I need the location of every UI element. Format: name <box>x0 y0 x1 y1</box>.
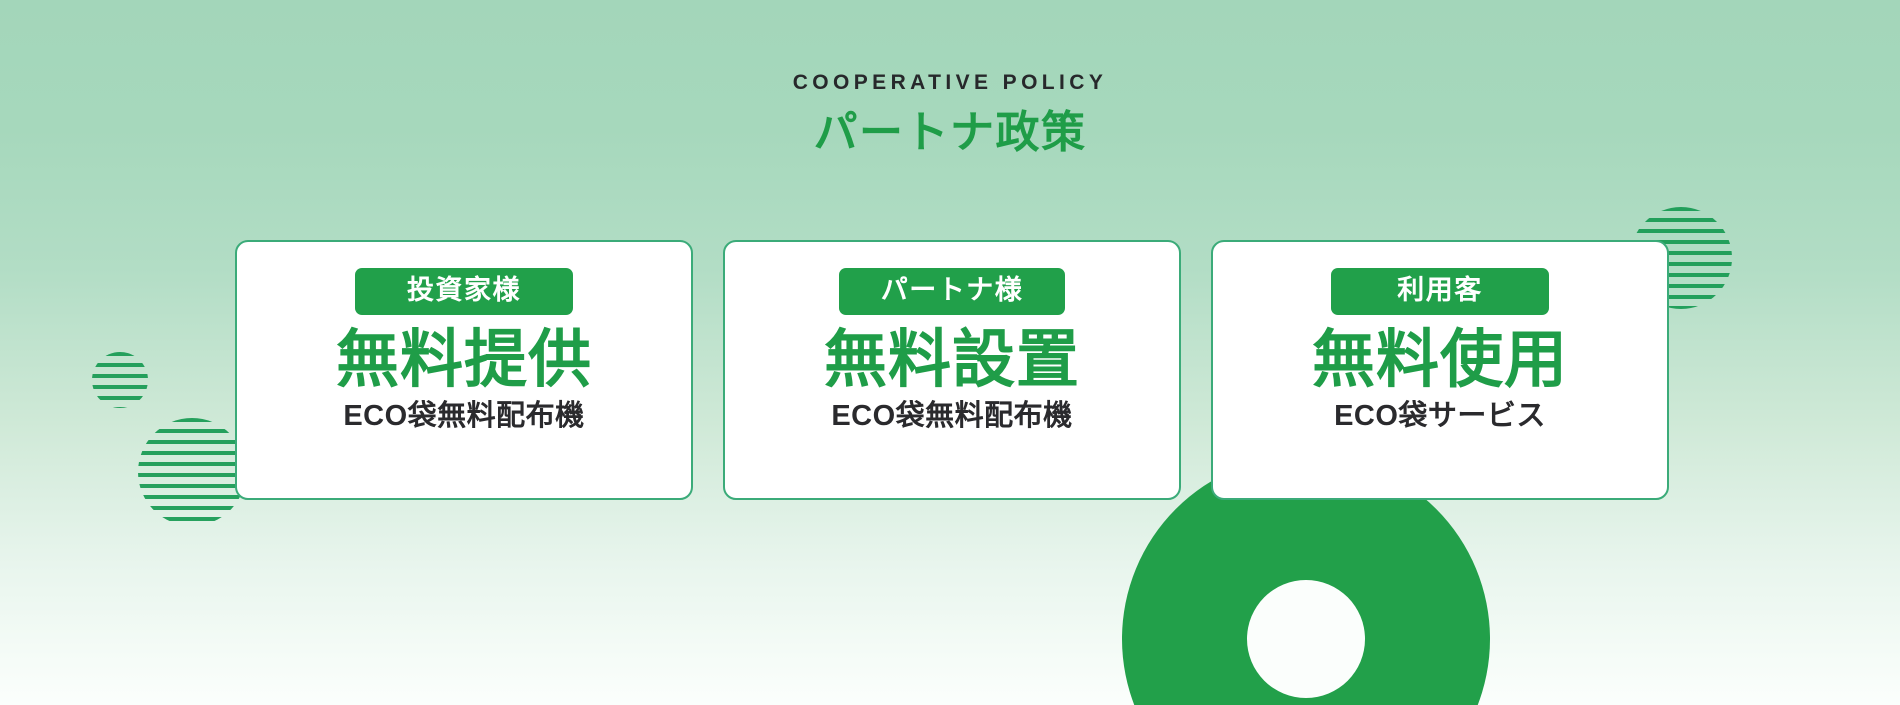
policy-card-customer[interactable]: 利用客 無料使用 ECO袋サービス <box>1211 240 1669 500</box>
striped-circle-icon <box>92 352 148 408</box>
policy-card-partner[interactable]: パートナ様 無料設置 ECO袋無料配布機 <box>723 240 1181 500</box>
card-headline: 無料使用 <box>1312 323 1568 397</box>
audience-badge: 投資家様 <box>355 268 573 315</box>
section-header: COOPERATIVE POLICY パートナ政策 <box>0 72 1900 160</box>
audience-badge: パートナ様 <box>839 268 1066 315</box>
card-subtitle: ECO袋サービス <box>1334 399 1546 434</box>
card-headline: 無料提供 <box>336 323 592 397</box>
card-headline: 無料設置 <box>824 323 1080 397</box>
policy-card-list: 投資家様 無料提供 ECO袋無料配布機 パートナ様 無料設置 ECO袋無料配布機… <box>235 240 1669 500</box>
card-subtitle: ECO袋無料配布機 <box>343 399 584 434</box>
page-title: パートナ政策 <box>0 107 1900 160</box>
card-subtitle: ECO袋無料配布機 <box>831 399 1072 434</box>
policy-card-investor[interactable]: 投資家様 無料提供 ECO袋無料配布機 <box>235 240 693 500</box>
striped-circle-icon <box>138 418 246 526</box>
audience-badge: 利用客 <box>1331 268 1549 315</box>
hero-section: COOPERATIVE POLICY パートナ政策 投資家様 無料提供 ECO袋… <box>0 0 1900 705</box>
section-eyebrow: COOPERATIVE POLICY <box>0 72 1900 93</box>
